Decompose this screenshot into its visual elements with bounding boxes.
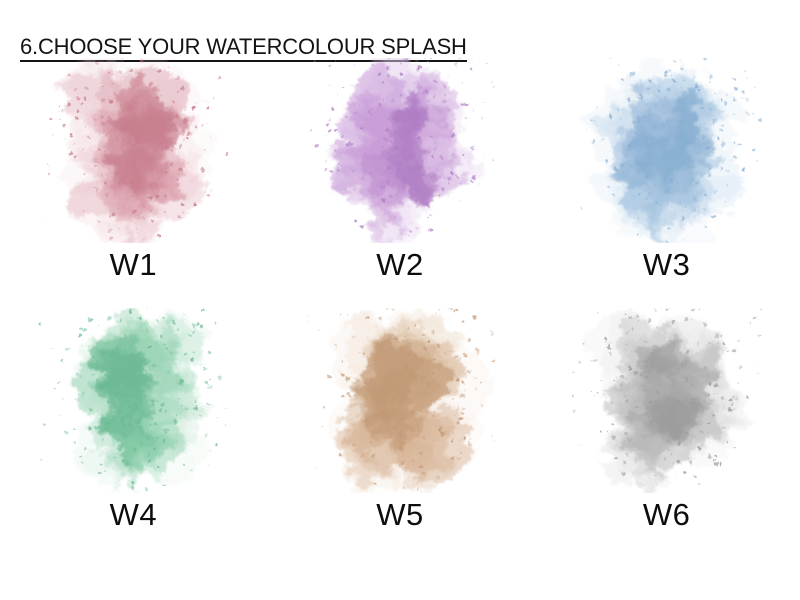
swatch-label: W6 — [643, 499, 691, 530]
swatch-label: W5 — [376, 499, 424, 530]
swatch-label: W1 — [110, 249, 158, 280]
watercolour-splash-icon[interactable] — [305, 308, 495, 493]
watercolour-splash-icon[interactable] — [572, 308, 762, 493]
watercolour-splash-icon[interactable] — [38, 308, 228, 493]
watercolour-splash-icon[interactable] — [572, 58, 762, 243]
swatch-option-w6[interactable]: W6 — [533, 308, 800, 558]
watercolour-splash-icon[interactable] — [305, 58, 495, 243]
swatch-label: W4 — [110, 499, 158, 530]
swatch-option-w2[interactable]: W2 — [267, 58, 534, 308]
swatch-option-w1[interactable]: W1 — [0, 58, 267, 308]
swatch-option-w3[interactable]: W3 — [533, 58, 800, 308]
watercolour-splash-icon[interactable] — [38, 58, 228, 243]
swatch-option-w5[interactable]: W5 — [267, 308, 534, 558]
swatch-label: W2 — [376, 249, 424, 280]
swatch-option-w4[interactable]: W4 — [0, 308, 267, 558]
swatch-grid: W1 W2 — [0, 58, 800, 558]
swatch-label: W3 — [643, 249, 691, 280]
